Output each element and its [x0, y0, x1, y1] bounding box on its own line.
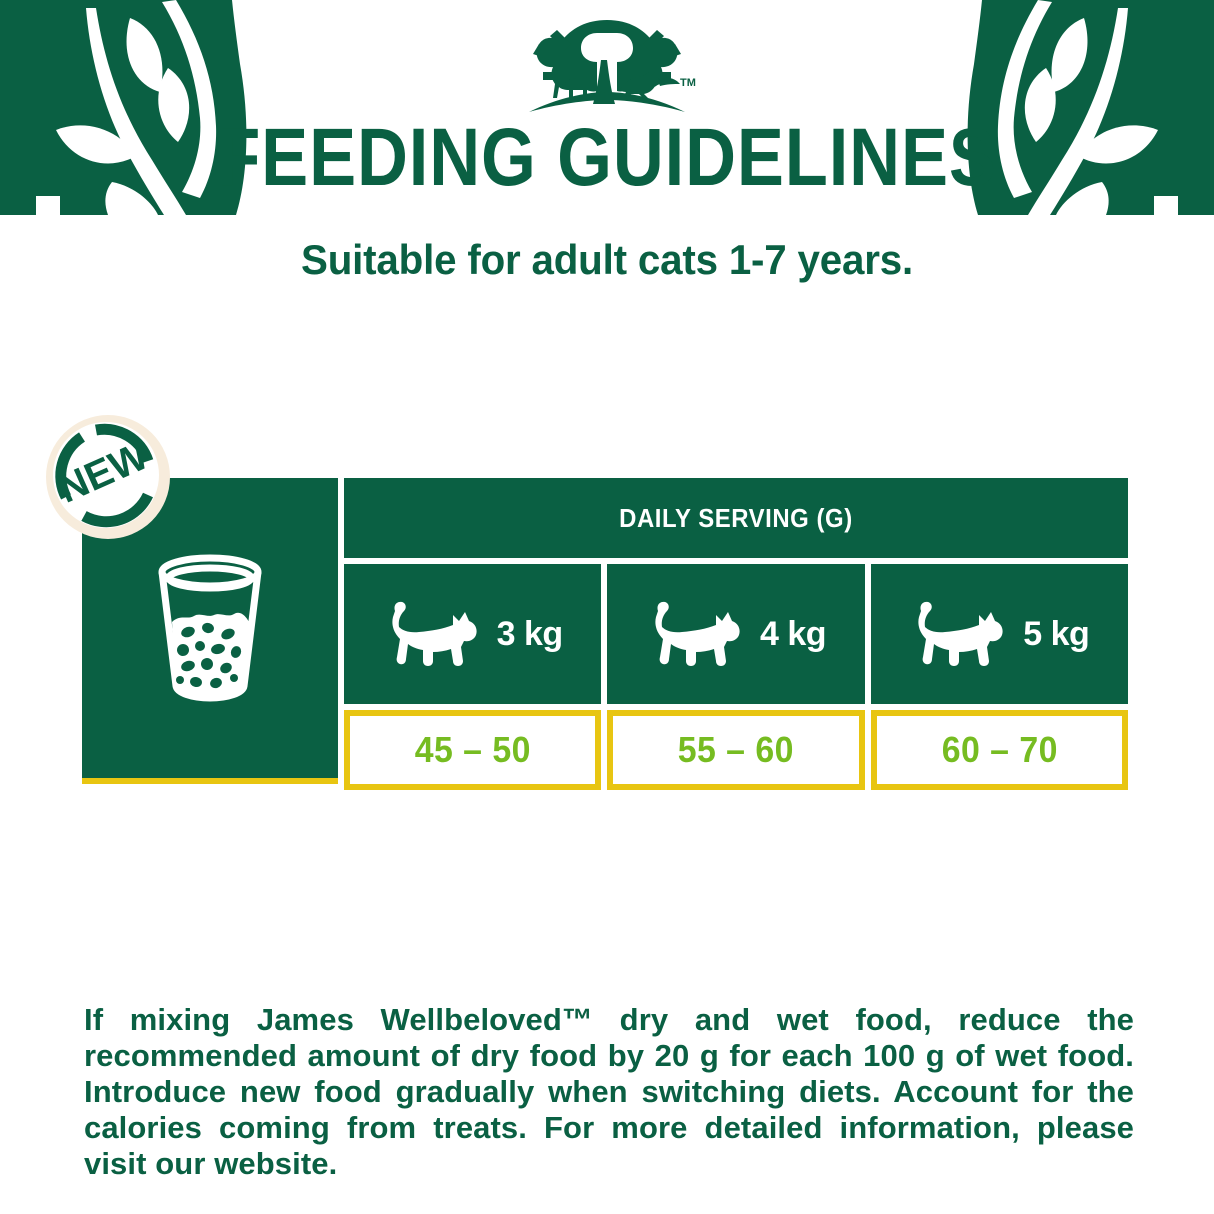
footnote-text: If mixing James Wellbeloved™ dry and wet… — [84, 1002, 1134, 1182]
weight-row: 3 kg 4 kg 5 kg — [344, 564, 1128, 704]
daily-serving-header-label: DAILY SERVING (G) — [619, 503, 853, 534]
weight-label-3kg: 3 kg — [497, 615, 563, 654]
cat-silhouette-icon — [909, 599, 1013, 669]
weight-cell-4kg: 4 kg — [607, 564, 864, 704]
weight-label-5kg: 5 kg — [1023, 615, 1089, 654]
feeding-table: DAILY SERVING (G) 3 kg — [82, 478, 1128, 790]
serving-value-4kg: 55 – 60 — [678, 729, 794, 771]
cat-silhouette-icon — [383, 599, 487, 669]
serving-value-row: 45 – 50 55 – 60 60 – 70 — [344, 710, 1128, 790]
feeding-guidelines-page: TM FEEDING GUIDELINES Suitable for adult… — [0, 0, 1214, 1214]
serving-cell-5kg: 60 – 70 — [871, 710, 1128, 790]
page-title: FEEDING GUIDELINES — [85, 114, 1129, 202]
trademark-symbol: TM — [680, 77, 696, 89]
weight-cell-3kg: 3 kg — [344, 564, 601, 704]
serving-value-3kg: 45 – 50 — [415, 729, 531, 771]
measuring-cup-icon — [150, 550, 270, 702]
serving-cell-3kg: 45 – 50 — [344, 710, 601, 790]
daily-serving-section: DAILY SERVING (G) 3 kg — [344, 478, 1128, 790]
tree-paw-logo-icon: TM — [517, 14, 697, 118]
weight-label-4kg: 4 kg — [760, 615, 826, 654]
new-badge: NEW — [40, 409, 180, 549]
serving-value-5kg: 60 – 70 — [941, 729, 1057, 771]
weight-cell-5kg: 5 kg — [871, 564, 1128, 704]
cat-silhouette-icon — [646, 599, 750, 669]
serving-cell-4kg: 55 – 60 — [607, 710, 864, 790]
page-subtitle: Suitable for adult cats 1-7 years. — [24, 236, 1189, 284]
daily-serving-header: DAILY SERVING (G) — [344, 478, 1128, 558]
